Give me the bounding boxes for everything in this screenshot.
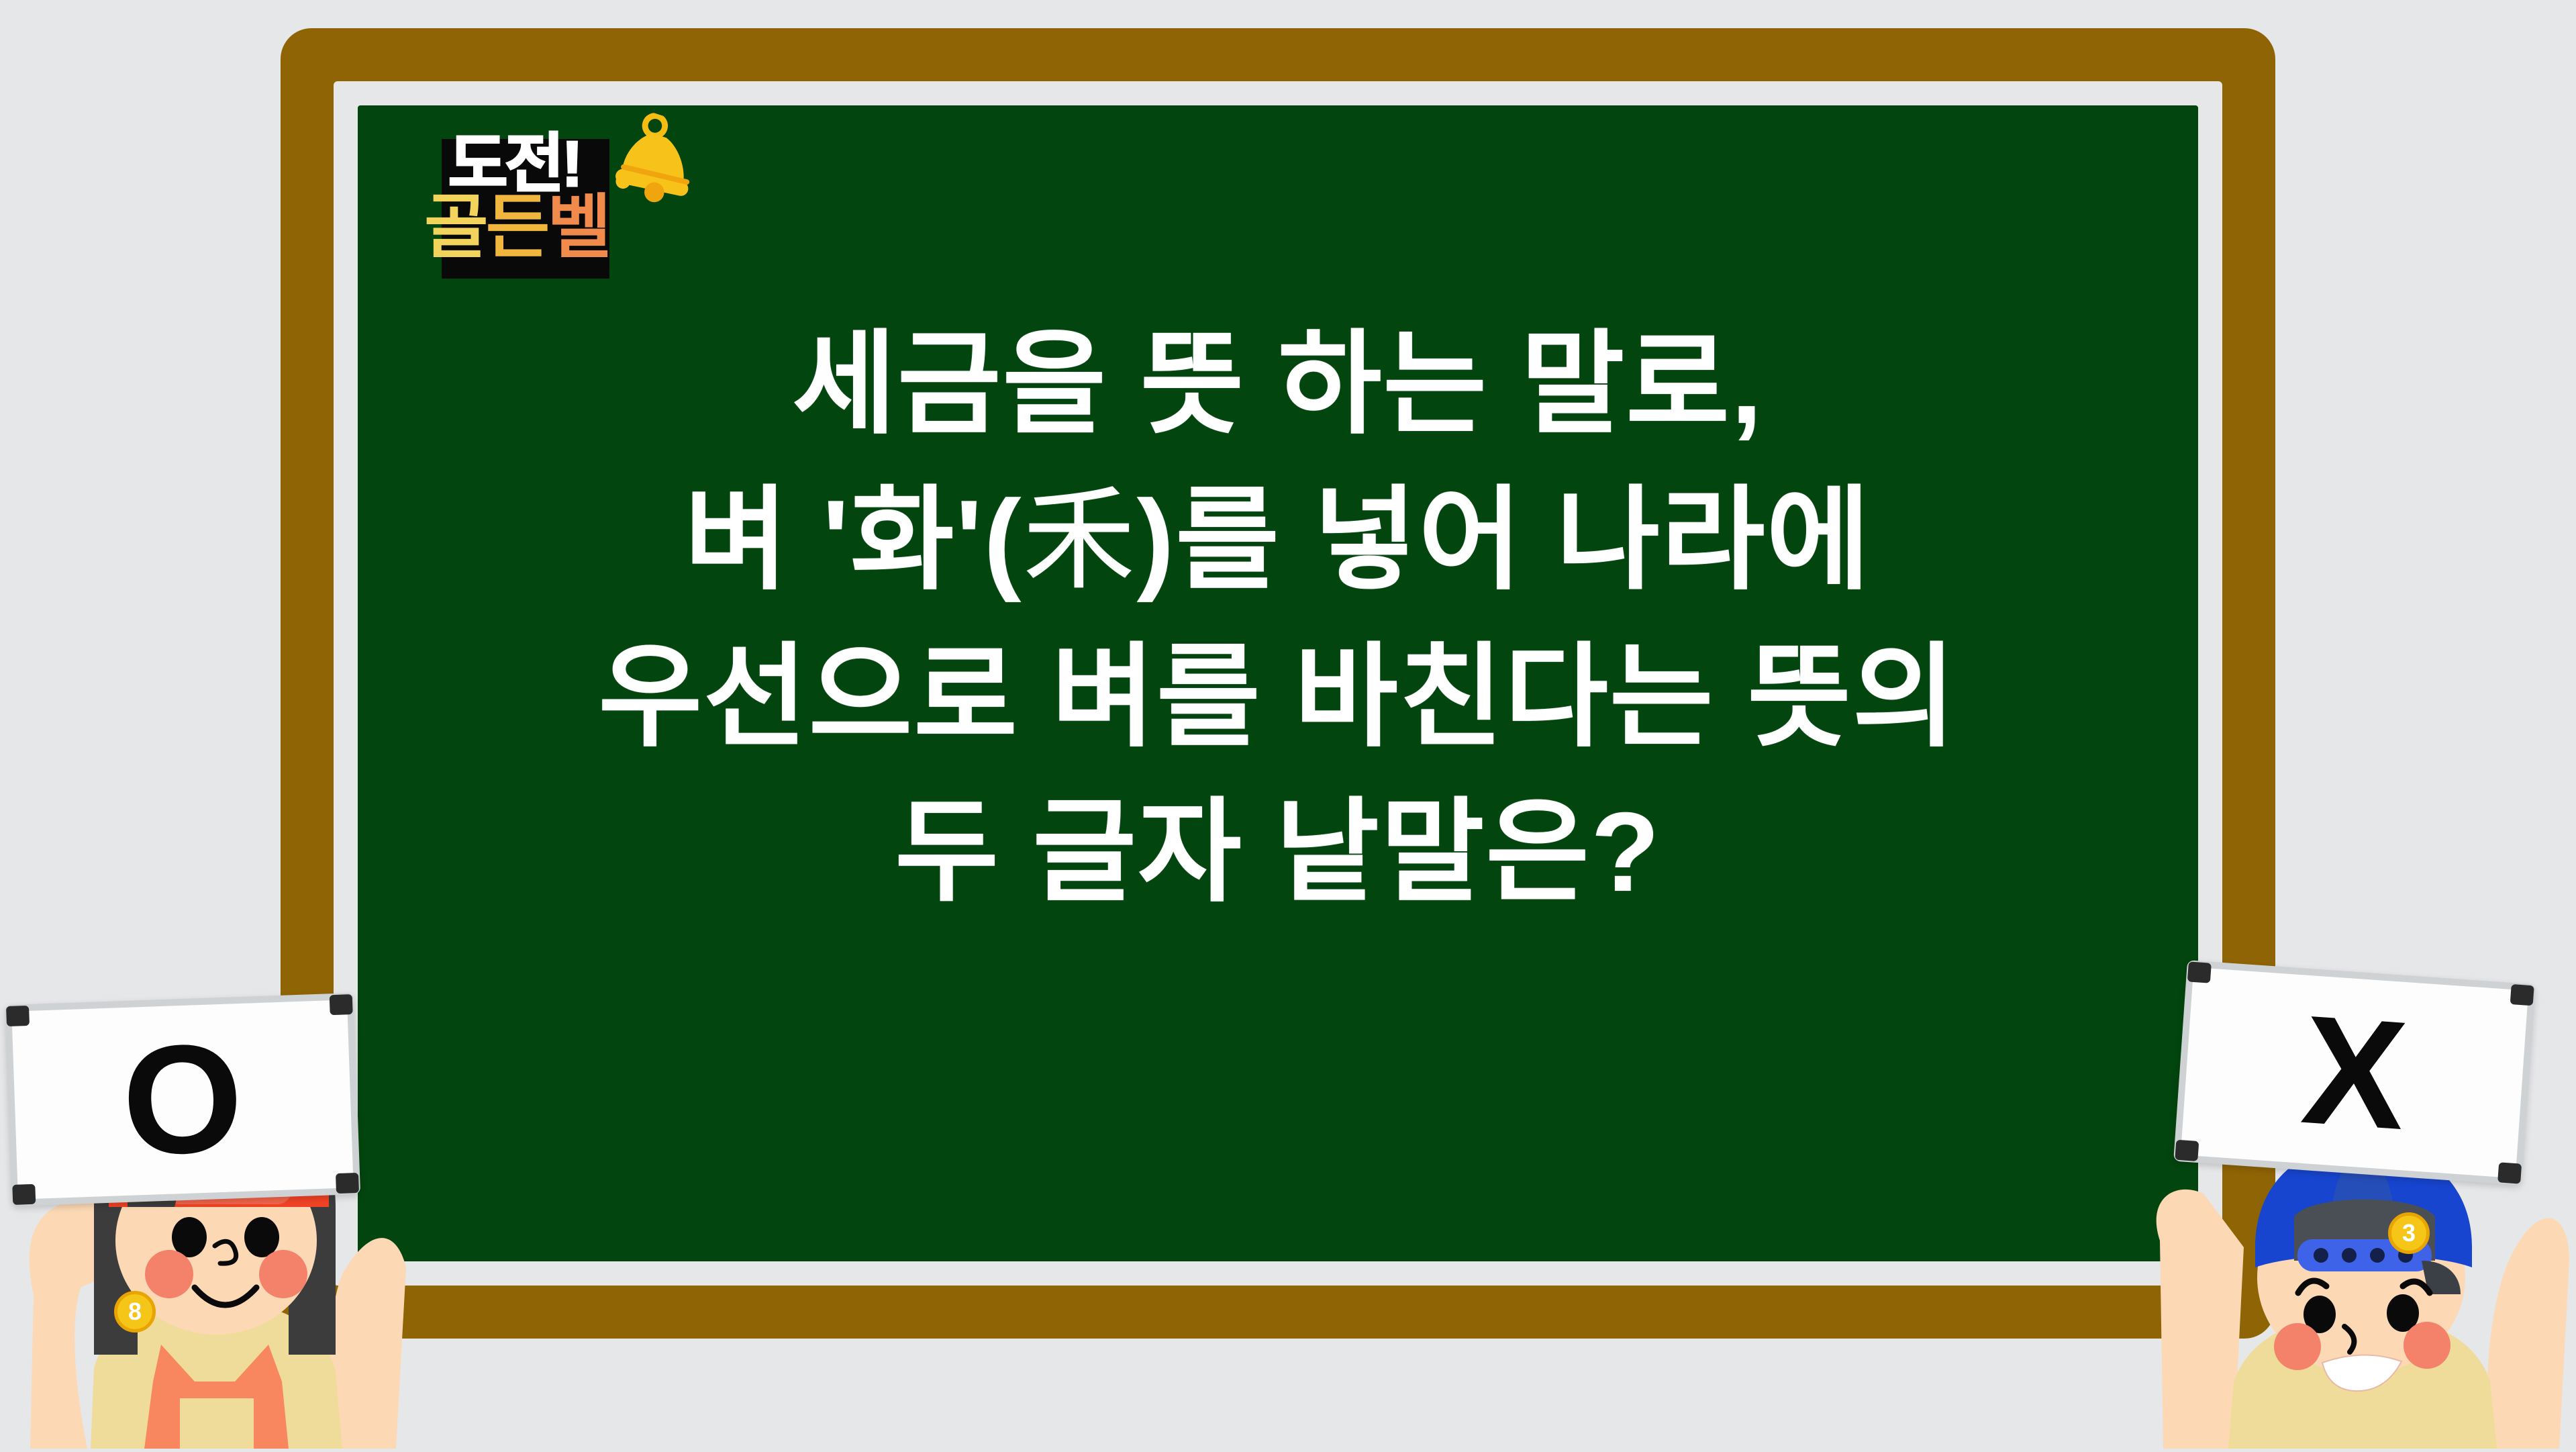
logo-syllable-1: 골: [424, 189, 486, 267]
answer-mark-o: O: [11, 1000, 353, 1199]
chalkboard-mat: 도전! 골든벨 세금을 뜻 하는 말로, 벼 '화'(禾)를 넣어 나라에 우선: [334, 81, 2222, 1286]
question-line-2: 벼 '화'(禾)를 넣어 나라에: [405, 463, 2151, 620]
logo-title-line2: 골든벨: [424, 193, 609, 262]
logo-title-line1: 도전!: [448, 132, 581, 197]
answer-mark-x: X: [2181, 967, 2528, 1178]
question-text: 세금을 뜻 하는 말로, 벼 '화'(禾)를 넣어 나라에 우선으로 벼를 바친…: [405, 307, 2151, 930]
golden-bell-logo: 도전! 골든벨: [422, 113, 710, 281]
player-badge-left: 8: [114, 1291, 156, 1333]
question-line-2-pre: 벼 '화'(: [685, 477, 1023, 603]
player-number-right: 3: [2402, 1219, 2416, 1247]
logo-syllable-2: 든: [486, 189, 548, 267]
girl-character: O 8: [0, 1006, 436, 1449]
question-line-3: 우선으로 벼를 바친다는 뜻의: [405, 620, 2151, 775]
boy-character: X 3: [2140, 979, 2576, 1449]
chalkboard-surface: 도전! 골든벨 세금을 뜻 하는 말로, 벼 '화'(禾)를 넣어 나라에 우선: [358, 105, 2198, 1261]
hanja-hwa: 禾: [1022, 479, 1136, 603]
question-line-4: 두 글자 낱말은?: [405, 775, 2151, 930]
logo-syllable-3: 벨: [547, 189, 609, 267]
question-line-1: 세금을 뜻 하는 말로,: [405, 307, 2151, 463]
question-line-2-post: )를 넣어 나라에: [1136, 477, 1871, 603]
player-badge-right: 3: [2388, 1212, 2430, 1254]
player-number-left: 8: [128, 1298, 142, 1326]
bell-icon: [606, 106, 715, 215]
chalkboard-frame: 도전! 골든벨 세금을 뜻 하는 말로, 벼 '화'(禾)를 넣어 나라에 우선: [281, 28, 2275, 1339]
